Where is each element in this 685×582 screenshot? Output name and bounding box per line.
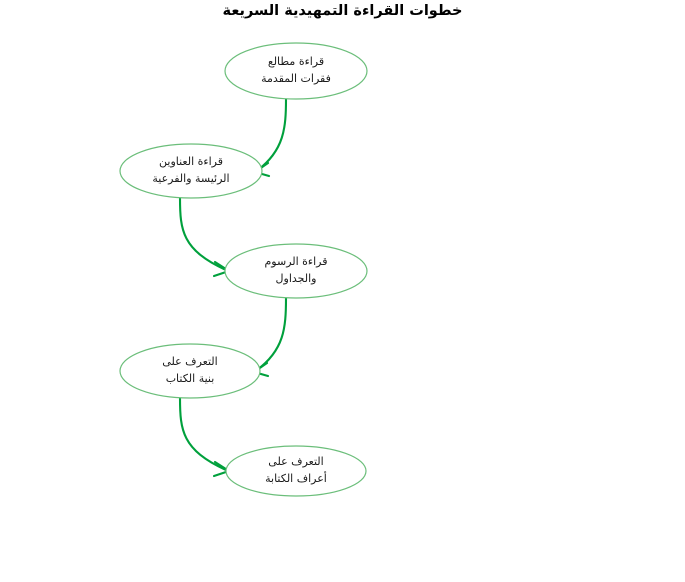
- node-label-2-line2: الرئيسة والفرعية: [121, 170, 261, 187]
- node-label-3-line1: قراءة الرسوم: [226, 253, 366, 270]
- node-label-3-line2: والجداول: [226, 270, 366, 287]
- node-label-3[interactable]: قراءة الرسوم والجداول: [226, 253, 366, 287]
- node-label-2[interactable]: قراءة العناوين الرئيسة والفرعية: [121, 153, 261, 187]
- node-label-1-line1: قراءة مطالع: [226, 53, 366, 70]
- connector-node4-to-node5: [180, 398, 229, 476]
- connector-node2-to-node3: [180, 198, 229, 276]
- node-label-5[interactable]: التعرف على أعراف الكتابة: [226, 453, 366, 487]
- node-label-5-line2: أعراف الكتابة: [226, 470, 366, 487]
- node-label-1[interactable]: قراءة مطالع فقرات المقدمة: [226, 53, 366, 87]
- flowchart-canvas: [0, 0, 685, 582]
- node-label-4[interactable]: التعرف على بنية الكتاب: [120, 353, 260, 387]
- node-label-1-line2: فقرات المقدمة: [226, 70, 366, 87]
- node-label-4-line2: بنية الكتاب: [120, 370, 260, 387]
- node-label-2-line1: قراءة العناوين: [121, 153, 261, 170]
- node-label-5-line1: التعرف على: [226, 453, 366, 470]
- node-label-4-line1: التعرف على: [120, 353, 260, 370]
